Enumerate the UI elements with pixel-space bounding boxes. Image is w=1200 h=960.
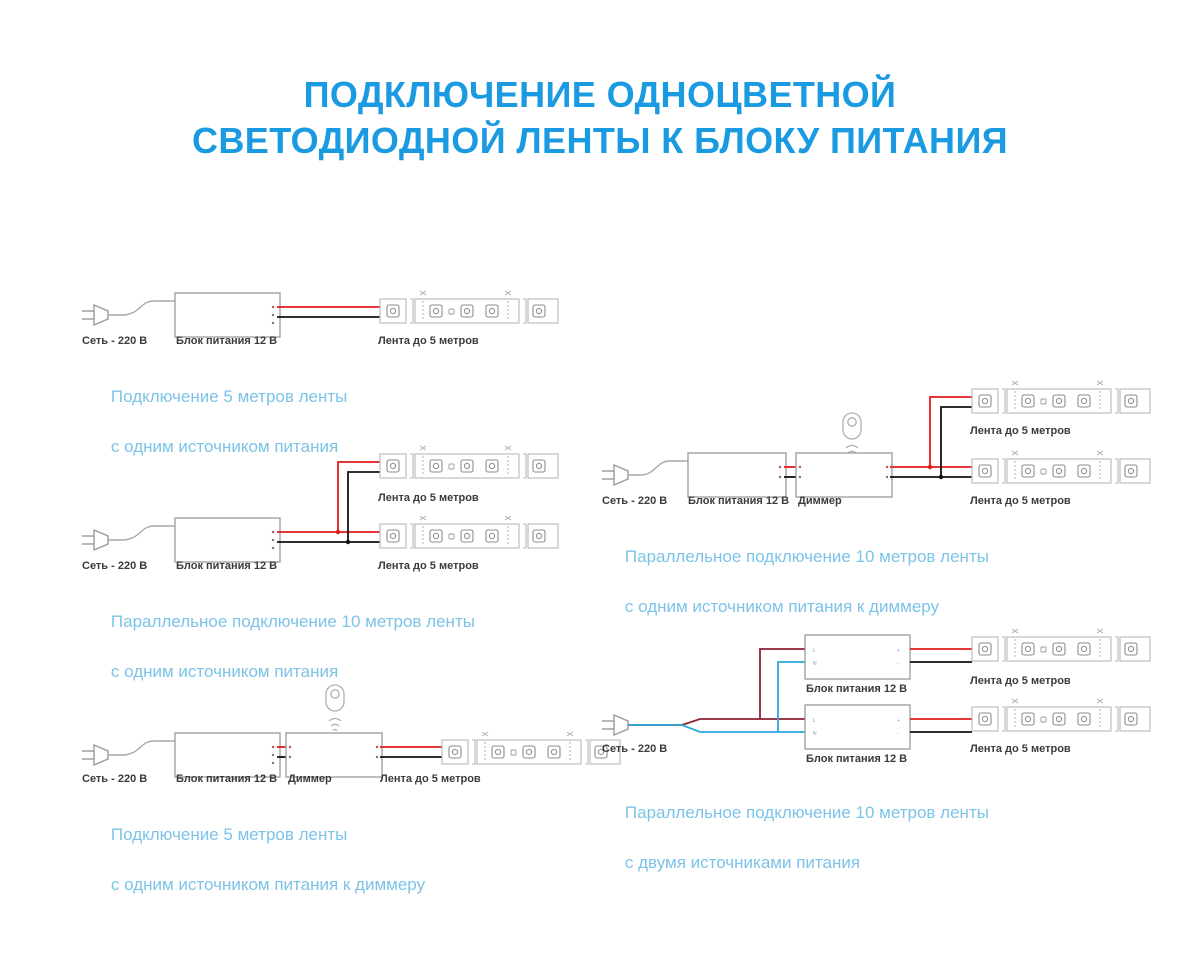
led-strip bbox=[380, 446, 558, 478]
junction-dot bbox=[346, 540, 350, 544]
label-mains: Сеть - 220 В bbox=[82, 560, 147, 572]
power-supply-box bbox=[175, 293, 280, 337]
label-mains: Сеть - 220 В bbox=[602, 495, 667, 507]
led-strip bbox=[972, 451, 1150, 483]
caption-line1: Параллельное подключение 10 метров ленты bbox=[625, 803, 989, 822]
dimmer-box bbox=[286, 733, 382, 777]
diagram-3-dimmer-single: Сеть - 220 В Блок питания 12 В Диммер Ле… bbox=[80, 685, 590, 790]
page-title-line1: ПОДКЛЮЧЕНИЕ ОДНОЦВЕТНОЙ bbox=[304, 74, 897, 115]
label-led-strip: Лента до 5 метров bbox=[970, 675, 1071, 687]
page-title-line2: СВЕТОДИОДНОЙ ЛЕНТЫ К БЛОКУ ПИТАНИЯ bbox=[0, 118, 1200, 164]
label-led-strip: Лента до 5 метров bbox=[970, 495, 1071, 507]
diagram-2-parallel-one-psu: Лента до 5 метров Сеть - 220 В Блок пита… bbox=[80, 440, 590, 570]
label-power-supply: Блок питания 12 В bbox=[688, 495, 789, 507]
label-dimmer: Диммер bbox=[288, 773, 332, 785]
led-strip bbox=[972, 699, 1150, 731]
terminal-label-neutral: N bbox=[813, 661, 817, 667]
diagram-3-schematic bbox=[80, 685, 590, 790]
caption-line1: Параллельное подключение 10 метров ленты bbox=[111, 612, 475, 631]
diagram-3-caption: Подключение 5 метров ленты с одним источ… bbox=[92, 797, 425, 922]
diagram-4-schematic bbox=[600, 375, 1140, 505]
diagram-4-dimmer-parallel: Лента до 5 метров Сеть - 220 В Блок пита… bbox=[600, 375, 1140, 505]
page-title: ПОДКЛЮЧЕНИЕ ОДНОЦВЕТНОЙ СВЕТОДИОДНОЙ ЛЕН… bbox=[0, 72, 1200, 164]
diagram-1-single-strip: Сеть - 220 В Блок питания 12 В Лента до … bbox=[80, 285, 580, 345]
label-dimmer: Диммер bbox=[798, 495, 842, 507]
mains-plug-icon bbox=[602, 715, 628, 735]
label-power-supply: Блок питания 12 В bbox=[176, 560, 277, 572]
power-supply-box bbox=[688, 453, 786, 497]
led-strip bbox=[972, 381, 1150, 413]
caption-line1: Подключение 5 метров ленты bbox=[111, 387, 348, 406]
diagram-5-caption: Параллельное подключение 10 метров ленты… bbox=[606, 775, 989, 900]
label-led-strip: Лента до 5 метров bbox=[970, 425, 1071, 437]
junction-dot bbox=[928, 465, 932, 469]
led-strip bbox=[380, 291, 558, 323]
wire-live-riser bbox=[760, 649, 805, 719]
wire-neutral-riser bbox=[778, 662, 805, 732]
label-led-strip: Лента до 5 метров bbox=[378, 335, 479, 347]
mains-plug-icon bbox=[602, 461, 688, 485]
label-power-supply: Блок питания 12 В bbox=[806, 753, 907, 765]
diagram-2-schematic bbox=[80, 440, 590, 570]
label-power-supply: Блок питания 12 В bbox=[176, 773, 277, 785]
caption-line2: с одним источником питания bbox=[111, 662, 338, 681]
power-supply-box: L N + - bbox=[805, 705, 910, 749]
mains-plug-icon bbox=[82, 741, 175, 765]
caption-line2: с одним источником питания к диммеру bbox=[625, 597, 939, 616]
terminal-label-neutral: N bbox=[813, 731, 817, 737]
remote-control-icon bbox=[326, 685, 344, 731]
caption-line2: с одним источником питания к диммеру bbox=[111, 875, 425, 894]
label-mains: Сеть - 220 В bbox=[82, 335, 147, 347]
remote-control-icon bbox=[843, 413, 861, 458]
terminal-label-live: L bbox=[813, 718, 816, 724]
power-supply-box bbox=[175, 518, 280, 562]
caption-line2: с двумя источниками питания bbox=[625, 853, 860, 872]
caption-line1: Подключение 5 метров ленты bbox=[111, 825, 348, 844]
power-supply-box: L N + - bbox=[805, 635, 910, 679]
label-power-supply: Блок питания 12 В bbox=[176, 335, 277, 347]
label-power-supply: Блок питания 12 В bbox=[806, 683, 907, 695]
led-strip bbox=[380, 516, 558, 548]
terminal-label-plus: + bbox=[897, 648, 900, 654]
led-strip bbox=[442, 732, 620, 764]
caption-line1: Параллельное подключение 10 метров ленты bbox=[625, 547, 989, 566]
dimmer-box bbox=[796, 453, 892, 497]
power-supply-box bbox=[175, 733, 280, 777]
terminal-label-plus: + bbox=[897, 718, 900, 724]
mains-plug-icon bbox=[82, 301, 175, 329]
led-strip bbox=[972, 629, 1150, 661]
label-led-strip: Лента до 5 метров bbox=[970, 743, 1071, 755]
diagram-5-two-psu: L N + - L N + - bbox=[600, 625, 1140, 765]
terminal-label-live: L bbox=[813, 648, 816, 654]
label-led-strip: Лента до 5 метров bbox=[378, 492, 479, 504]
label-mains: Сеть - 220 В bbox=[602, 743, 667, 755]
label-led-strip: Лента до 5 метров bbox=[378, 560, 479, 572]
label-mains: Сеть - 220 В bbox=[82, 773, 147, 785]
diagram-1-schematic bbox=[80, 285, 580, 345]
mains-plug-icon bbox=[82, 526, 175, 550]
junction-dot bbox=[336, 530, 340, 534]
junction-dot bbox=[939, 475, 943, 479]
label-led-strip: Лента до 5 метров bbox=[380, 773, 481, 785]
